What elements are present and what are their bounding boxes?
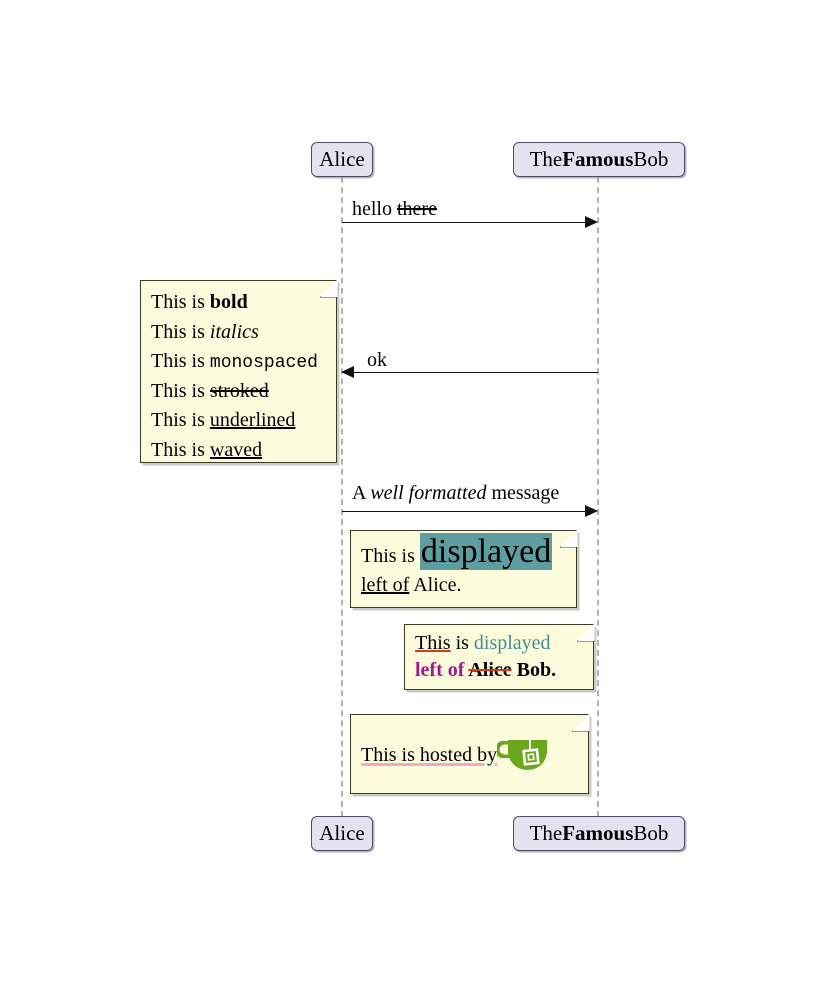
note-formatting-line-3-prefix: This is: [151, 350, 210, 372]
message-hello-line: [342, 222, 592, 223]
note-hosted: This is hosted by: [350, 714, 589, 794]
message-formatted-pre: A: [352, 482, 370, 504]
note-formatting-line-4: This is stroked: [151, 377, 324, 407]
note-formatting-line-2-styled: italics: [210, 321, 259, 343]
note-displayed-left-line-2: left of Alice.: [361, 573, 564, 598]
message-hello-normal: hello: [352, 198, 397, 220]
note-formatting-line-5-styled: underlined: [210, 409, 296, 431]
note-colored-struck: Alice: [468, 659, 511, 681]
message-hello-arrowhead-icon: [585, 216, 598, 228]
note-formatting: This is bold This is italics This is mon…: [140, 280, 337, 463]
note-formatting-line-5-prefix: This is: [151, 409, 210, 431]
message-ok-line: [352, 372, 598, 373]
message-ok-label: ok: [367, 349, 387, 371]
participant-alice-top[interactable]: Alice: [311, 142, 373, 177]
participant-bob-top-suffix: Bob: [633, 149, 668, 170]
note-formatting-line-6: This is waved: [151, 436, 324, 466]
participant-bob-bottom-prefix: The: [530, 823, 563, 844]
note-colored-magenta: left of: [415, 659, 468, 681]
participant-bob-top[interactable]: The Famous Bob: [513, 142, 685, 177]
note-colored: This is displayed left of Alice Bob.: [404, 624, 594, 690]
note-displayed-left-line-1: This is displayed: [361, 535, 564, 569]
note-displayed-left-underlined: left of: [361, 574, 409, 596]
note-colored-body: This is displayed left of Alice Bob.: [405, 625, 593, 692]
note-colored-line-2: left of Alice Bob.: [415, 657, 581, 684]
participant-alice-bottom-label: Alice: [319, 823, 364, 844]
participant-bob-top-prefix: The: [530, 149, 563, 170]
note-displayed-left: This is displayed left of Alice.: [350, 530, 577, 608]
lifeline-alice: [341, 177, 343, 817]
note-displayed-left-highlight: displayed: [420, 533, 552, 570]
participant-alice-top-label: Alice: [319, 149, 364, 170]
note-hosted-line: This is hosted by: [361, 729, 576, 771]
note-colored-mid: is: [451, 632, 474, 654]
participant-bob-top-bold: Famous: [562, 149, 633, 170]
message-formatted-post: message: [486, 482, 559, 504]
message-hello-label: hello there: [352, 198, 437, 220]
tea-cup-logo-icon: [497, 729, 551, 771]
message-formatted-arrowhead-icon: [585, 505, 598, 517]
note-formatting-line-6-styled: waved: [210, 439, 262, 461]
note-colored-underlined: This: [415, 632, 451, 654]
note-formatting-line-4-styled: stroked: [210, 380, 269, 402]
note-hosted-body: This is hosted by: [351, 715, 588, 779]
message-formatted-italic: well formatted: [370, 482, 486, 504]
message-hello-struck: there: [397, 198, 437, 220]
note-hosted-text: This is hosted by: [361, 744, 497, 766]
note-formatting-line-3-styled: monospaced: [210, 353, 318, 373]
message-formatted-label: A well formatted message: [352, 482, 559, 504]
message-ok-arrowhead-icon: [341, 366, 354, 378]
message-formatted-line: [342, 511, 592, 512]
note-formatting-line-6-prefix: This is: [151, 439, 210, 461]
note-formatting-line-4-prefix: This is: [151, 380, 210, 402]
note-displayed-left-pre: This is: [361, 545, 420, 567]
note-formatting-line-3: This is monospaced: [151, 347, 324, 377]
participant-alice-bottom[interactable]: Alice: [311, 816, 373, 851]
note-displayed-left-body: This is displayed left of Alice.: [351, 531, 576, 606]
note-colored-line-1: This is displayed: [415, 630, 581, 657]
participant-bob-bottom-suffix: Bob: [633, 823, 668, 844]
note-formatting-line-1-prefix: This is: [151, 291, 210, 313]
note-formatting-line-5: This is underlined: [151, 406, 324, 436]
note-formatting-line-1-styled: bold: [210, 291, 248, 313]
note-colored-teal: displayed: [474, 632, 551, 654]
participant-bob-bottom[interactable]: The Famous Bob: [513, 816, 685, 851]
sequence-diagram-canvas: Alice The Famous Bob hello there This is…: [0, 0, 826, 992]
note-formatting-line-2: This is italics: [151, 318, 324, 348]
note-formatting-line-2-prefix: This is: [151, 321, 210, 343]
participant-bob-bottom-bold: Famous: [562, 823, 633, 844]
message-ok-normal: ok: [367, 349, 387, 371]
note-colored-bold: Bob.: [512, 659, 556, 681]
note-formatting-line-1: This is bold: [151, 288, 324, 318]
lifeline-bob: [597, 177, 599, 817]
note-formatting-body: This is bold This is italics This is mon…: [141, 281, 336, 474]
note-displayed-left-post: Alice.: [409, 574, 461, 596]
